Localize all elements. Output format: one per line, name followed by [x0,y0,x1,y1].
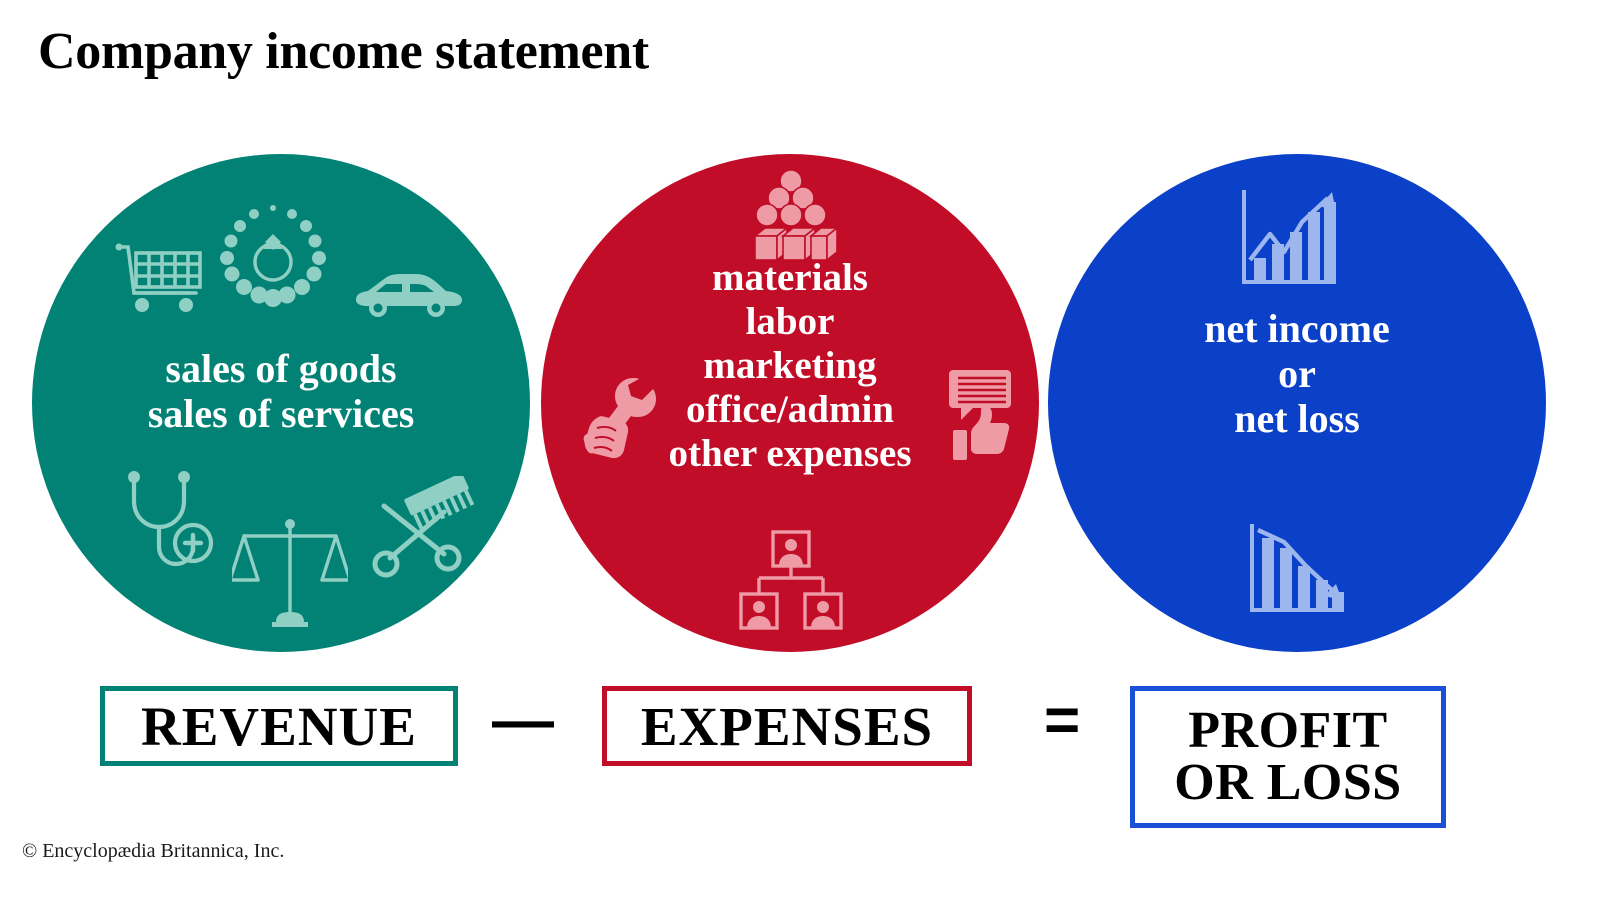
expenses-circle: materials labor marketing office/admin o… [541,154,1039,652]
wrench-hand-icon [583,372,659,462]
profit-line-3: net loss [1048,396,1546,441]
equals-operator: = [1044,690,1080,752]
profit-circle-text: net income or net loss [1048,306,1546,442]
necklace-ring-icon [212,202,334,312]
stacked-materials-icon [741,168,841,268]
profit-box-label: PROFIT OR LOSS [1174,705,1401,809]
revenue-circle: sales of goods sales of services [32,154,530,652]
copyright-credit: © Encyclopædia Britannica, Inc. [22,840,284,863]
circles-row: sales of goods sales of services [0,154,1600,654]
expenses-line-2: labor [541,300,1039,344]
falling-bar-chart-icon [1244,522,1348,616]
equation-row: REVENUE — EXPENSES = PROFIT OR LOSS [0,672,1600,832]
revenue-circle-text: sales of goods sales of services [32,346,530,436]
revenue-box: REVENUE [100,686,458,766]
scissors-comb-icon [372,476,482,584]
page-title: Company income statement [38,22,649,81]
minus-operator: — [492,690,554,752]
car-icon [350,266,462,320]
expenses-box-label: EXPENSES [641,699,933,754]
profit-line-1: net income [1048,306,1546,351]
expenses-box: EXPENSES [602,686,972,766]
revenue-box-label: REVENUE [141,699,417,754]
profit-box-line-2: OR LOSS [1174,757,1401,809]
profit-box-line-1: PROFIT [1174,705,1401,757]
org-chart-icon [735,528,847,632]
profit-box: PROFIT OR LOSS [1130,686,1446,828]
scales-of-justice-icon [232,514,348,630]
profit-circle: net income or net loss [1048,154,1546,652]
stethoscope-icon [118,471,214,575]
rising-bar-chart-icon [1236,186,1340,290]
shopping-cart-icon [114,239,206,315]
revenue-line-2: sales of services [32,391,530,436]
revenue-line-1: sales of goods [32,346,530,391]
profit-line-2: or [1048,351,1546,396]
speech-bubble-thumbs-up-icon [949,366,1011,462]
